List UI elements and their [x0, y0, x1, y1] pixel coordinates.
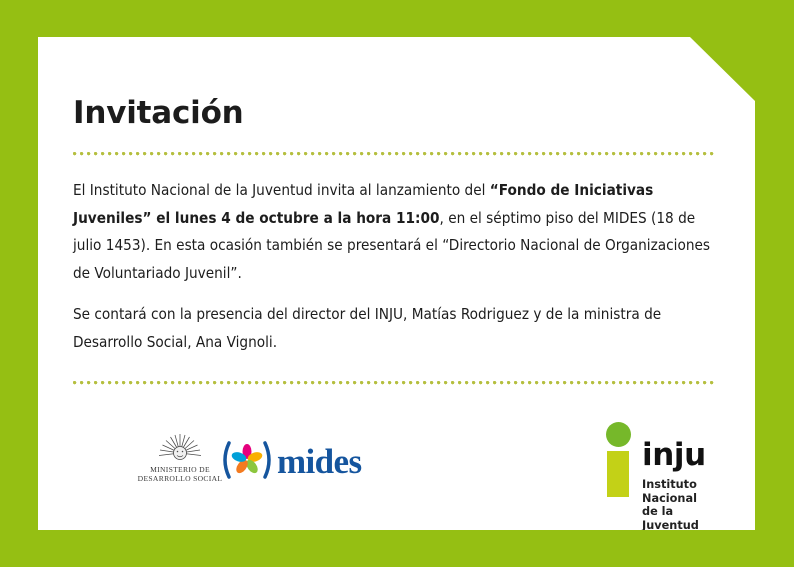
body-paragraph-primary: El Instituto Nacional de la Juventud inv… [73, 177, 715, 287]
inju-i-mark-icon [605, 422, 631, 497]
logo-row: MINISTERIO DE DESARROLLO SOCIAL [73, 415, 717, 515]
inju-text-block: inju Instituto Nacional de la Juventud [642, 422, 717, 532]
card-content: Invitación El Instituto Nacional de la J… [73, 37, 717, 530]
body-paragraph-secondary: Se contará con la presencia del director… [73, 301, 715, 356]
ministry-logo-text: MINISTERIO DE DESARROLLO SOCIAL [131, 465, 229, 483]
ministry-logo-line-1: MINISTERIO DE [131, 465, 229, 474]
inju-logo: inju Instituto Nacional de la Juventud [605, 422, 717, 532]
divider-top [73, 152, 715, 156]
ministry-logo: MINISTERIO DE DESARROLLO SOCIAL [131, 433, 229, 483]
mides-logo: mides [218, 439, 362, 481]
invitation-card: Invitación El Instituto Nacional de la J… [38, 37, 755, 530]
paragraph-1-segment-lead: El Instituto Nacional de la Juventud inv… [73, 181, 490, 199]
page-title: Invitación [73, 95, 244, 131]
inju-dot [606, 422, 631, 447]
inju-stem [607, 451, 629, 497]
ministry-logo-line-2: DESARROLLO SOCIAL [131, 474, 229, 483]
inju-subtitle: Instituto Nacional de la Juventud [642, 478, 717, 532]
uruguay-sun-emblem-icon [157, 433, 203, 463]
mides-pinwheel-icon [218, 439, 276, 481]
invitation-page: { "colors": { "background_green": "#95bf… [0, 0, 794, 567]
mides-wordmark: mides [277, 444, 362, 479]
divider-bottom [73, 381, 715, 385]
inju-wordmark: inju [642, 440, 717, 471]
